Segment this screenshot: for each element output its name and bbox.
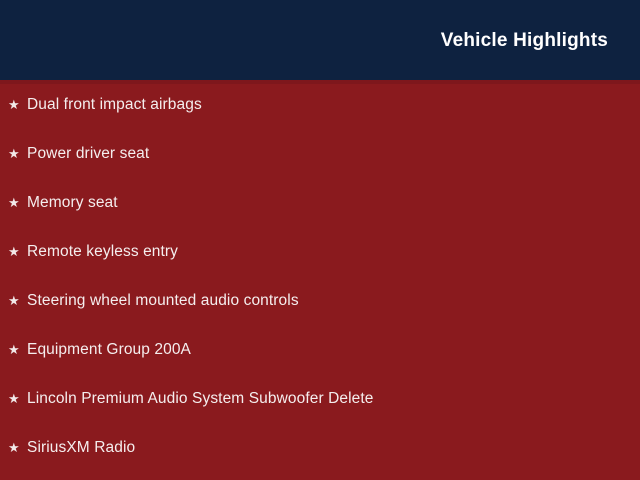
highlight-list-item: ★Lincoln Premium Audio System Subwoofer … <box>0 374 640 423</box>
highlight-list-item: ★Dual front impact airbags <box>0 80 640 129</box>
highlight-item-label: Memory seat <box>27 194 118 211</box>
star-icon: ★ <box>8 98 27 111</box>
highlight-list-item: ★Equipment Group 200A <box>0 325 640 374</box>
vehicle-highlights-slide: Vehicle Highlights ★Dual front impact ai… <box>0 0 640 480</box>
highlight-item-label: Dual front impact airbags <box>27 96 202 113</box>
star-icon: ★ <box>8 294 27 307</box>
highlight-item-label: Lincoln Premium Audio System Subwoofer D… <box>27 390 374 407</box>
highlight-list-item: ★Remote keyless entry <box>0 227 640 276</box>
highlight-list-item: ★Steering wheel mounted audio controls <box>0 276 640 325</box>
vehicle-highlights-list: ★Dual front impact airbags★Power driver … <box>0 80 640 472</box>
star-icon: ★ <box>8 245 27 258</box>
highlight-item-label: SiriusXM Radio <box>27 439 135 456</box>
highlights-panel: ★Dual front impact airbags★Power driver … <box>0 80 640 480</box>
star-icon: ★ <box>8 441 27 454</box>
slide-header: Vehicle Highlights <box>0 0 640 80</box>
highlight-list-item: ★Power driver seat <box>0 129 640 178</box>
highlight-item-label: Power driver seat <box>27 145 149 162</box>
highlight-item-label: Equipment Group 200A <box>27 341 191 358</box>
star-icon: ★ <box>8 196 27 209</box>
page-title: Vehicle Highlights <box>441 31 608 50</box>
highlight-list-item: ★Memory seat <box>0 178 640 227</box>
highlight-item-label: Remote keyless entry <box>27 243 178 260</box>
star-icon: ★ <box>8 392 27 405</box>
highlight-item-label: Steering wheel mounted audio controls <box>27 292 299 309</box>
highlight-list-item: ★SiriusXM Radio <box>0 423 640 472</box>
star-icon: ★ <box>8 343 27 356</box>
star-icon: ★ <box>8 147 27 160</box>
